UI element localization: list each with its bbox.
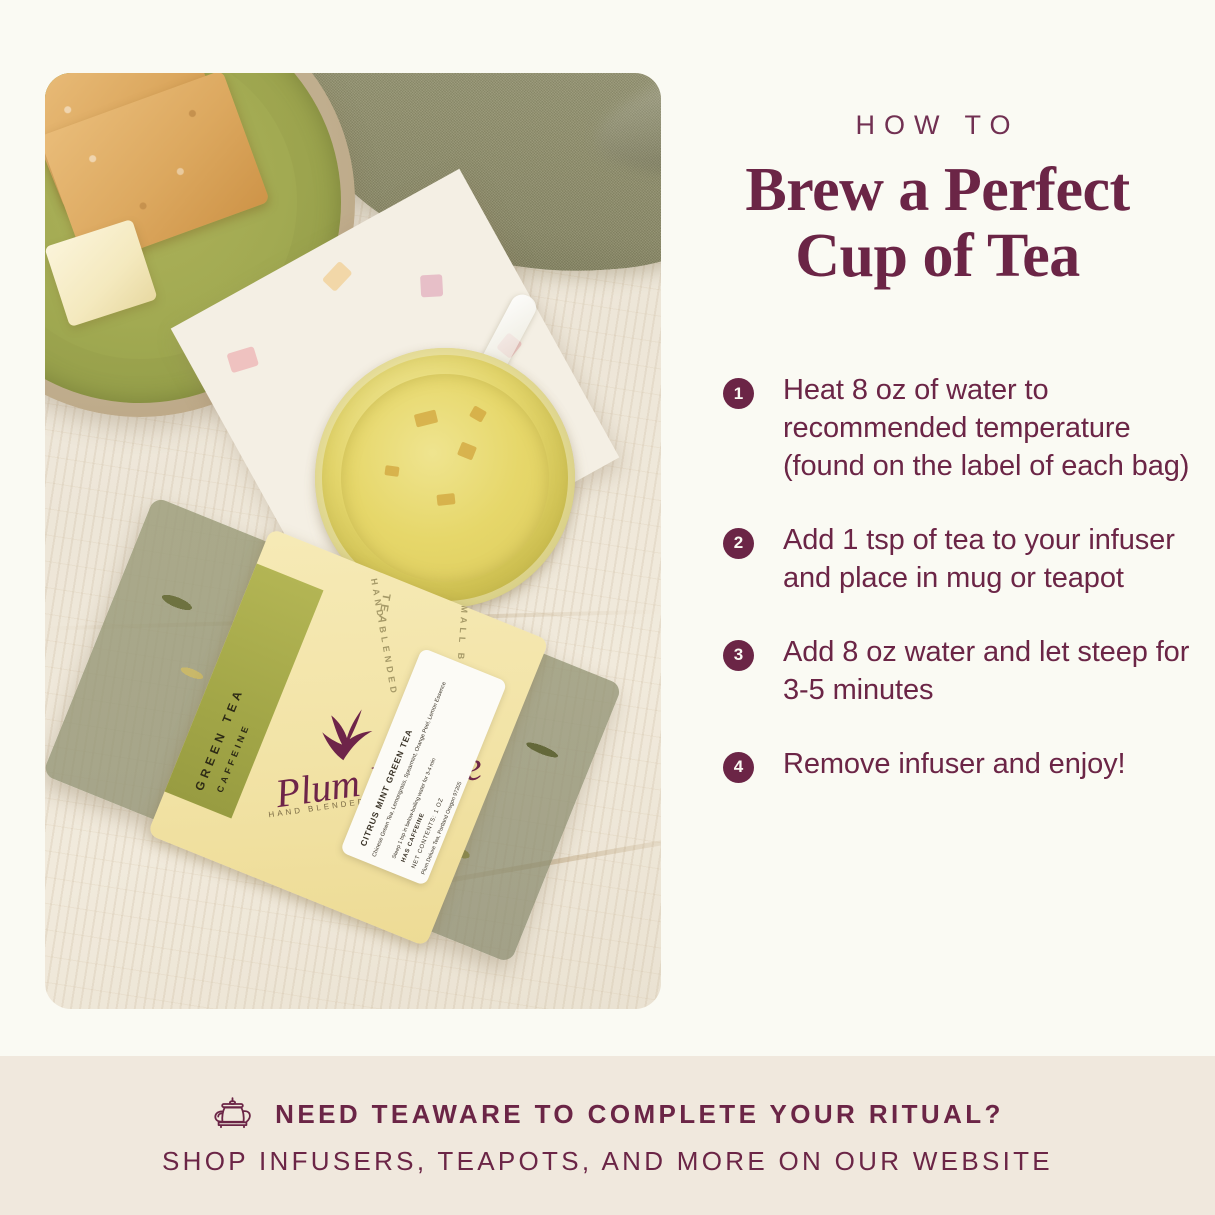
footer-primary-row: NEED TEAWARE TO COMPLETE YOUR RITUAL?	[211, 1095, 1004, 1135]
footer-headline: NEED TEAWARE TO COMPLETE YOUR RITUAL?	[275, 1099, 1004, 1130]
step-number-badge: 3	[723, 640, 754, 671]
list-item: 1 Heat 8 oz of water to recommended temp…	[723, 372, 1193, 486]
list-item: 2 Add 1 tsp of tea to your infuser and p…	[723, 522, 1193, 598]
teapot-icon	[211, 1095, 255, 1135]
list-item: 4 Remove infuser and enjoy!	[723, 746, 1193, 784]
step-number-badge: 2	[723, 528, 754, 559]
instructions-panel: HOW TO Brew a Perfect Cup of Tea 1 Heat …	[700, 0, 1215, 1040]
step-text: Add 8 oz water and let steep for 3-5 min…	[783, 634, 1193, 710]
footer-banner: NEED TEAWARE TO COMPLETE YOUR RITUAL? SH…	[0, 1056, 1215, 1215]
tea-particle	[436, 493, 455, 506]
tea-particle	[457, 442, 477, 461]
terrazzo-chip	[322, 261, 353, 292]
list-item: 3 Add 8 oz water and let steep for 3-5 m…	[723, 634, 1193, 710]
steps-list: 1 Heat 8 oz of water to recommended temp…	[723, 372, 1193, 784]
sticker-steep-instructions: Steep 1 tsp in below-boiling water for 3…	[391, 757, 437, 859]
photo-scene: GREEN TEA CAFFEINE TEA HAND BLENDED SMAL…	[45, 73, 661, 1009]
page-title: Brew a Perfect Cup of Tea	[700, 158, 1175, 289]
step-text: Remove infuser and enjoy!	[783, 746, 1125, 784]
step-text: Add 1 tsp of tea to your infuser and pla…	[783, 522, 1193, 598]
step-number-badge: 4	[723, 752, 754, 783]
footer-subline: SHOP INFUSERS, TEAPOTS, AND MORE ON OUR …	[162, 1146, 1053, 1177]
page-title-line-1: Brew a Perfect	[700, 158, 1175, 224]
page-title-line-2: Cup of Tea	[700, 224, 1175, 290]
step-text: Heat 8 oz of water to recommended temper…	[783, 372, 1193, 486]
terrazzo-chip	[420, 274, 443, 297]
infographic-canvas: GREEN TEA CAFFEINE TEA HAND BLENDED SMAL…	[0, 0, 1215, 1215]
tea-particle	[384, 465, 399, 477]
hero-photo: GREEN TEA CAFFEINE TEA HAND BLENDED SMAL…	[45, 73, 661, 1009]
eyebrow-label: HOW TO	[700, 110, 1175, 141]
brewed-tea-liquid	[341, 374, 549, 582]
tea-particle	[469, 405, 487, 422]
tea-particle	[414, 410, 438, 428]
napkin-fold	[586, 73, 661, 201]
step-number-badge: 1	[723, 378, 754, 409]
terrazzo-chip	[226, 346, 259, 373]
